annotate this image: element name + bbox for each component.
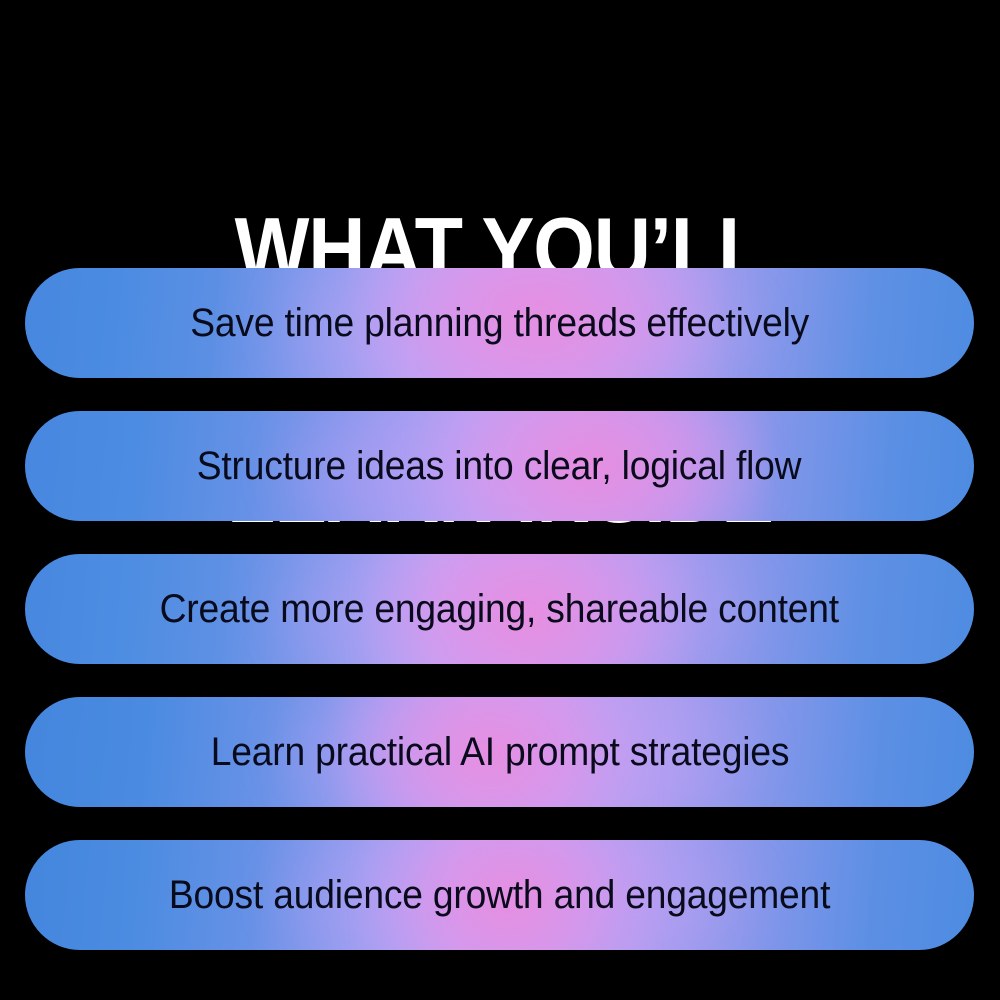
benefit-list: Save time planning threads effectively S…	[25, 268, 974, 950]
list-item[interactable]: Structure ideas into clear, logical flow	[25, 411, 974, 521]
list-item-label: Create more engaging, shareable content	[160, 589, 839, 629]
list-item-label: Save time planning threads effectively	[190, 303, 809, 343]
list-item[interactable]: Boost audience growth and engagement	[25, 840, 974, 950]
slide-canvas: WHAT YOU’LL LEARN INSIDE Save time plann…	[0, 0, 1000, 1000]
list-item-label: Learn practical AI prompt strategies	[210, 732, 788, 772]
list-item-label: Structure ideas into clear, logical flow	[197, 446, 802, 486]
list-item[interactable]: Learn practical AI prompt strategies	[25, 697, 974, 807]
list-item[interactable]: Save time planning threads effectively	[25, 268, 974, 378]
list-item-label: Boost audience growth and engagement	[169, 875, 830, 915]
list-item[interactable]: Create more engaging, shareable content	[25, 554, 974, 664]
